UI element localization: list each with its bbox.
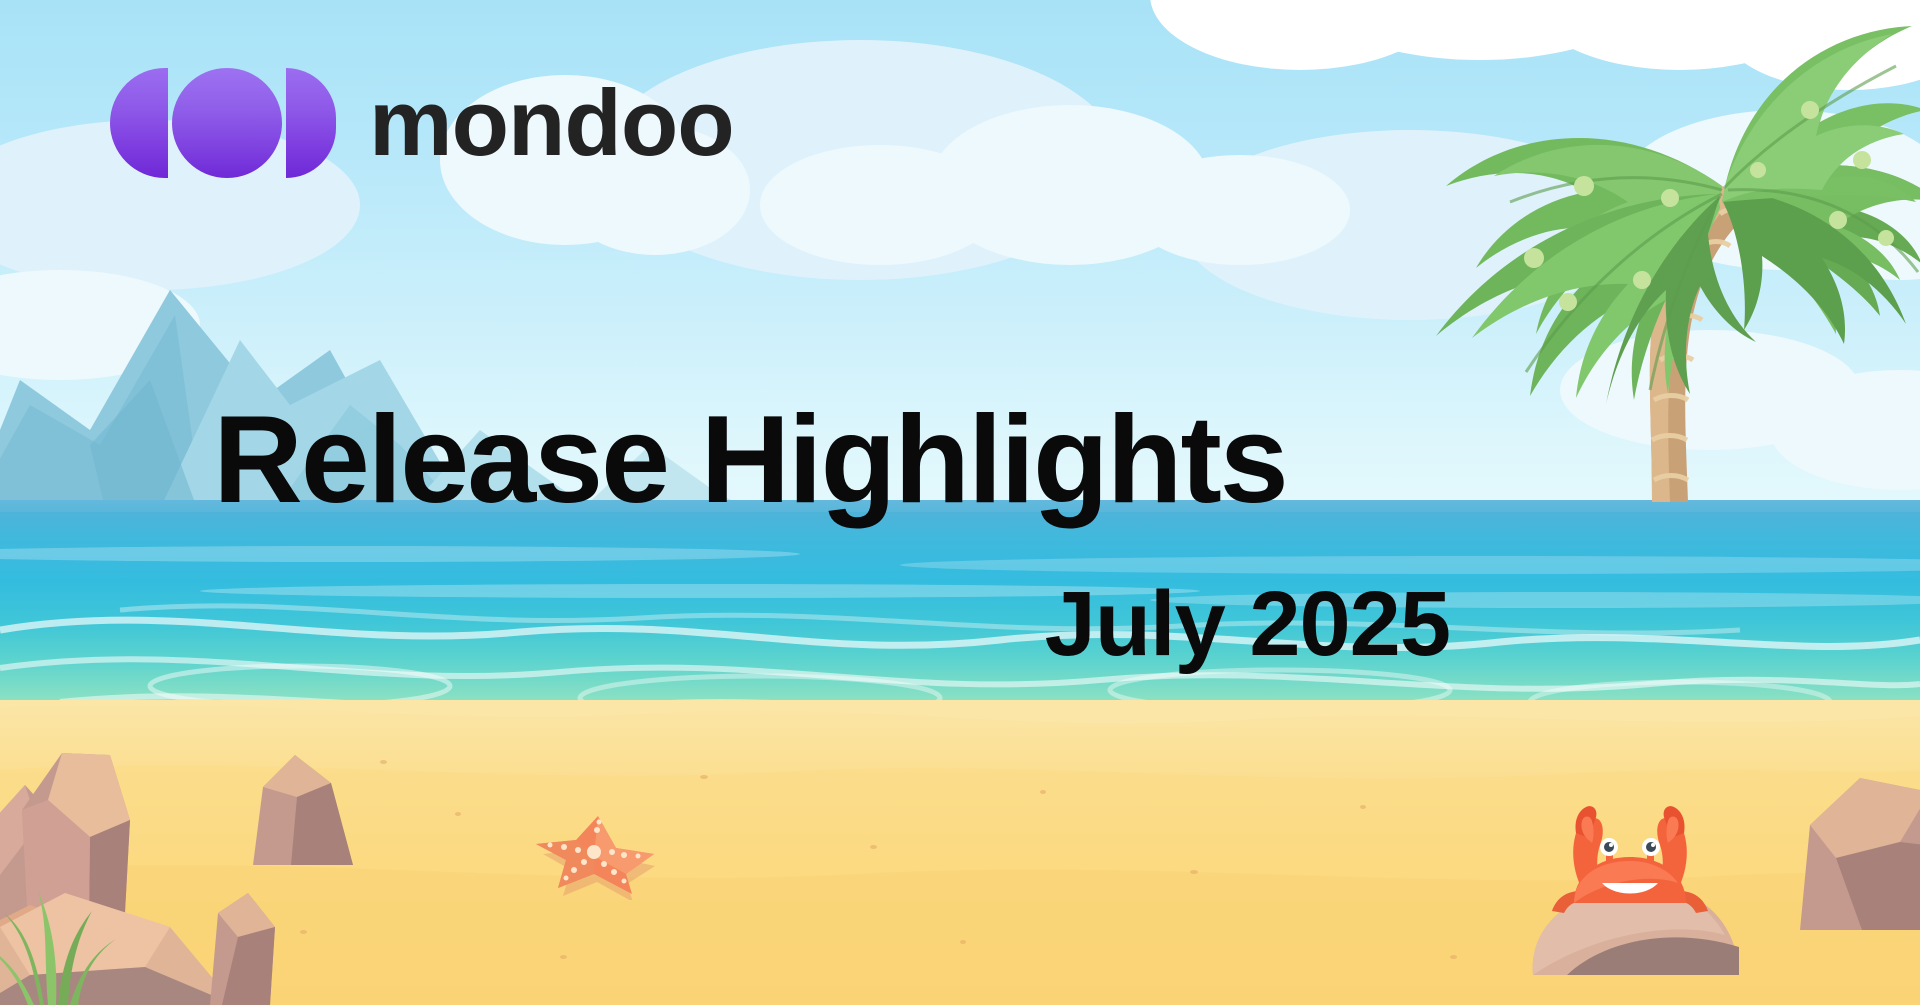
page-title: Release Highlights	[0, 398, 1500, 522]
release-highlights-banner: mondoo Release Highlights July 2025	[0, 0, 1920, 1005]
page-subtitle: July 2025	[0, 578, 1450, 670]
headline-block: Release Highlights July 2025	[0, 0, 1920, 1005]
